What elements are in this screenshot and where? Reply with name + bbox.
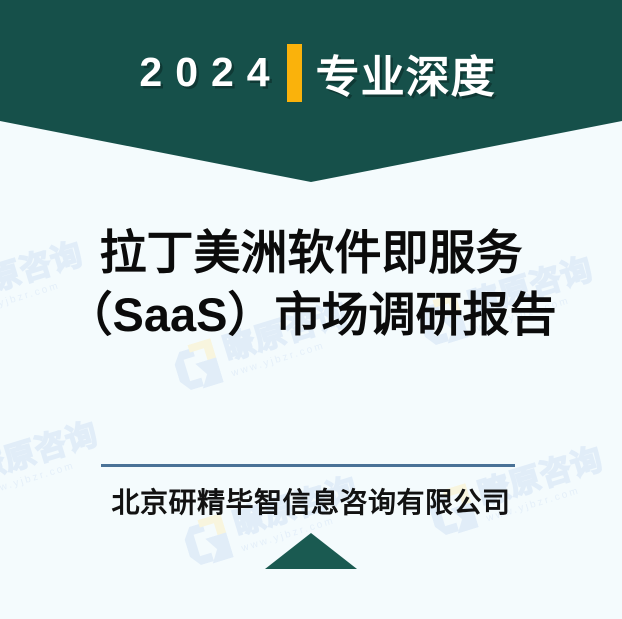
header-chevron-band: 2024 专业深度	[0, 0, 622, 182]
report-cover-page: 瞭原咨询 www.yjbzr.com 瞭原咨询 www.yjbzr.com 瞭原…	[0, 0, 622, 619]
report-year: 2024	[126, 49, 282, 96]
report-title-line-2: （SaaS）市场调研报告	[0, 284, 622, 346]
header-content: 2024 专业深度	[0, 0, 622, 145]
brand-logo-icon	[168, 338, 225, 395]
header-tagline: 专业深度	[316, 41, 496, 105]
report-title-line-1: 拉丁美洲软件即服务	[0, 222, 622, 284]
watermark-brand-text: 瞭原咨询	[0, 418, 101, 485]
brand-logo-icon	[178, 513, 235, 570]
accent-divider-bar	[287, 44, 302, 102]
publisher-divider-rule	[101, 464, 515, 467]
bottom-triangle-ornament	[265, 533, 357, 569]
report-title: 拉丁美洲软件即服务 （SaaS）市场调研报告	[0, 222, 622, 346]
publisher-name: 北京研精毕智信息咨询有限公司	[0, 481, 622, 521]
